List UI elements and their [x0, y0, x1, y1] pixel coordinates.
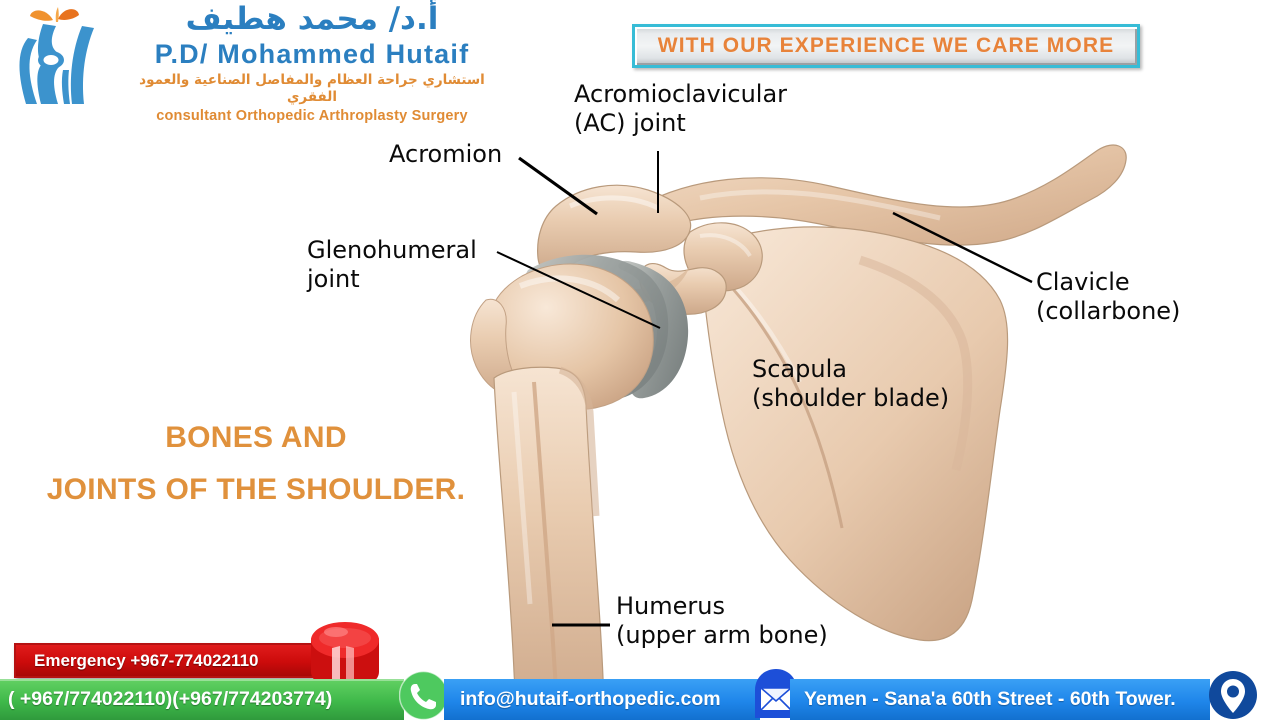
email-contact-bar[interactable]: info@hutaif-orthopedic.com	[444, 679, 760, 720]
label-scapula-line1: Scapula	[752, 355, 949, 384]
phone-contact-label: ( +967/774022110)(+967/774203774)	[0, 688, 332, 711]
page-title: BONES AND JOINTS OF THE SHOULDER.	[6, 412, 506, 515]
label-glenohumeral-line1: Glenohumeral	[307, 236, 477, 265]
location-pin-icon[interactable]	[1208, 670, 1258, 720]
label-clavicle-line2: (collarbone)	[1036, 297, 1180, 326]
emergency-contact-label: Emergency +967-774022110	[16, 651, 259, 671]
label-glenohumeral-line2: joint	[307, 265, 477, 294]
label-acromion: Acromion	[389, 140, 502, 169]
label-clavicle: Clavicle (collarbone)	[1036, 268, 1180, 327]
emergency-contact-bar[interactable]: Emergency +967-774022110	[14, 643, 320, 678]
label-ac-joint: Acromioclavicular (AC) joint	[574, 80, 787, 139]
label-ac-joint-line1: Acromioclavicular	[574, 80, 787, 109]
label-glenohumeral-joint: Glenohumeral joint	[307, 236, 477, 295]
label-scapula: Scapula (shoulder blade)	[752, 355, 949, 414]
label-scapula-line2: (shoulder blade)	[752, 384, 949, 413]
whatsapp-phone-icon[interactable]	[399, 671, 448, 720]
label-humerus: Humerus (upper arm bone)	[616, 592, 828, 651]
email-contact-label: info@hutaif-orthopedic.com	[444, 688, 721, 711]
phone-contact-bar[interactable]: ( +967/774022110)(+967/774203774)	[0, 679, 404, 720]
address-label: Yemen - Sana'a 60th Street - 60th Tower.	[790, 688, 1176, 711]
page-title-line2: JOINTS OF THE SHOULDER.	[6, 464, 506, 516]
label-clavicle-line1: Clavicle	[1036, 268, 1180, 297]
address-bar[interactable]: Yemen - Sana'a 60th Street - 60th Tower.	[790, 679, 1210, 720]
label-acromion-line1: Acromion	[389, 140, 502, 169]
label-humerus-line2: (upper arm bone)	[616, 621, 828, 650]
label-ac-joint-line2: (AC) joint	[574, 109, 787, 138]
label-humerus-line1: Humerus	[616, 592, 828, 621]
page-title-line1: BONES AND	[6, 412, 506, 464]
